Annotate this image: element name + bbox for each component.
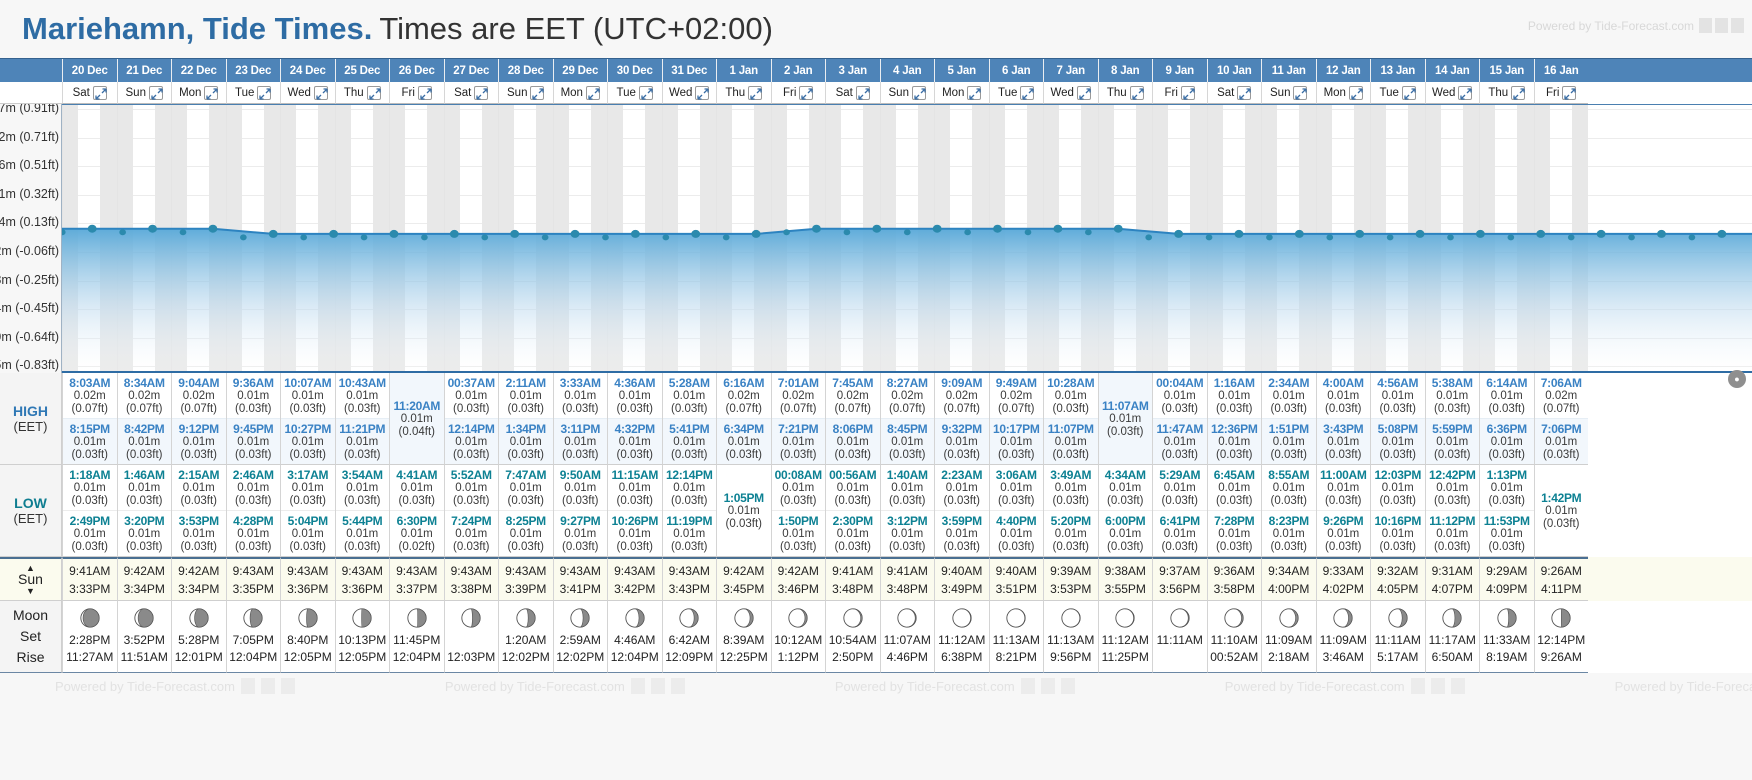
low-tide-feet: (0.03ft) [998, 541, 1034, 554]
high-tide-metres: 0.01m [292, 390, 324, 403]
low-tide-time: 7:47AM [505, 468, 546, 482]
moon-cell: 11:07AM4:46PM [880, 601, 935, 673]
scroll-handle[interactable]: ● [1728, 370, 1746, 388]
low-tide-event: 1:18AM0.01m(0.03ft) [63, 465, 117, 510]
low-tide-cell: 1:46AM0.01m(0.03ft)3:20PM0.01m(0.03ft) [117, 465, 172, 557]
high-tide-time: 7:06AM [1541, 376, 1582, 390]
tide-high-marker[interactable] [510, 230, 519, 238]
chart-y-tick: 0.04m (0.13ft) [0, 215, 59, 229]
sunrise-time: 9:43AM [396, 562, 437, 580]
moon-set-time: 4:46AM [614, 632, 655, 649]
high-tide-metres: 0.02m [128, 390, 160, 403]
low-tide-metres: 0.01m [346, 482, 378, 495]
expand-day-icon[interactable] [314, 86, 328, 100]
expand-day-icon[interactable] [639, 86, 653, 100]
day-of-week-cell: Fri [771, 82, 826, 104]
expand-day-icon[interactable] [1458, 86, 1472, 100]
tide-high-marker[interactable] [208, 225, 217, 233]
day-of-week-label: Sat [836, 87, 853, 99]
low-tide-event: 3:06AM0.01m(0.03ft) [990, 465, 1044, 510]
sun-cell: 9:37AM3:56PM [1152, 557, 1207, 601]
tide-low-marker[interactable] [1326, 234, 1333, 240]
tide-high-marker[interactable] [752, 230, 761, 238]
tide-high-marker[interactable] [1295, 230, 1304, 238]
high-tide-time: 7:45AM [832, 376, 873, 390]
expand-day-icon[interactable] [799, 86, 813, 100]
sun-cell: 9:43AM3:36PM [280, 557, 335, 601]
low-tide-time: 00:08AM [775, 468, 822, 482]
moon-phase-icon [569, 607, 591, 629]
sun-cell: 9:43AM3:42PM [607, 557, 662, 601]
moon-phase-icon [896, 607, 918, 629]
tide-low-marker[interactable] [240, 234, 247, 240]
tide-low-marker[interactable] [602, 234, 609, 240]
moon-phase-icon [351, 607, 373, 629]
sunset-time: 3:55PM [1105, 580, 1146, 598]
high-tide-label-main: HIGH [13, 403, 48, 419]
high-tide-event: 8:15PM0.01m(0.03ft) [63, 418, 117, 464]
logo-icon [1699, 18, 1712, 33]
low-tide-metres: 0.01m [564, 482, 596, 495]
moon-phase-icon [1550, 607, 1572, 629]
high-tide-feet: (0.07ft) [72, 403, 108, 416]
tide-high-marker[interactable] [1114, 225, 1123, 233]
low-tide-feet: (0.03ft) [453, 541, 489, 554]
tide-high-marker[interactable] [1355, 230, 1364, 238]
low-tide-event: 7:24PM0.01m(0.03ft) [445, 510, 499, 556]
high-tide-cell: 9:36AM0.01m(0.03ft)9:45PM0.01m(0.03ft) [226, 373, 281, 465]
tide-high-marker[interactable] [450, 230, 459, 238]
tide-low-marker[interactable] [1206, 234, 1213, 240]
low-tide-event: 2:49PM0.01m(0.03ft) [63, 510, 117, 556]
tide-low-marker[interactable] [300, 234, 307, 240]
sunrise-time: 9:36AM [1214, 562, 1255, 580]
tide-high-marker[interactable] [1235, 230, 1244, 238]
tide-low-marker[interactable] [1689, 234, 1696, 240]
expand-day-icon[interactable] [418, 86, 432, 100]
low-tide-metres: 0.01m [74, 528, 106, 541]
sun-cell: 9:41AM3:48PM [880, 557, 935, 601]
high-tide-feet: (0.03ft) [1325, 449, 1361, 462]
low-tide-time: 3:12PM [887, 514, 927, 528]
high-tide-feet: (0.03ft) [671, 449, 707, 462]
low-tide-feet: (0.03ft) [1434, 495, 1470, 508]
low-tide-time: 6:41PM [1160, 514, 1200, 528]
date-header-cell: 1 Jan [716, 59, 771, 82]
low-tide-metres: 0.01m [728, 505, 760, 518]
low-tide-event: 1:40AM0.01m(0.03ft) [881, 465, 935, 510]
sun-cell: 9:33AM4:02PM [1316, 557, 1371, 601]
tide-low-marker[interactable] [663, 234, 670, 240]
tide-high-marker[interactable] [269, 230, 278, 238]
high-tide-event: 10:28AM0.01m(0.03ft) [1044, 373, 1098, 418]
high-tide-cell: 2:34AM0.01m(0.03ft)1:51PM0.01m(0.03ft) [1261, 373, 1316, 465]
powered-by-header: Powered by Tide-Forecast.com [1528, 18, 1744, 33]
low-tide-cell: 1:13PM0.01m(0.03ft)11:53PM0.01m(0.03ft) [1479, 465, 1534, 557]
tide-high-marker[interactable] [1476, 230, 1485, 238]
high-tide-time: 4:56AM [1377, 376, 1418, 390]
tide-low-marker[interactable] [1085, 229, 1092, 235]
expand-day-icon[interactable] [1181, 86, 1195, 100]
high-tide-feet: (0.07ft) [944, 403, 980, 416]
high-tide-event: 6:36PM0.01m(0.03ft) [1480, 418, 1534, 464]
low-tide-event: 9:27PM0.01m(0.03ft) [554, 510, 608, 556]
sunset-time: 3:49PM [941, 580, 982, 598]
expand-day-icon[interactable] [1402, 86, 1416, 100]
sunset-time: 3:42PM [614, 580, 655, 598]
low-tide-cell: 8:55AM0.01m(0.03ft)8:23PM0.01m(0.03ft) [1261, 465, 1316, 557]
moon-rise-time: 12:03PM [447, 649, 495, 666]
expand-day-icon[interactable] [967, 86, 981, 100]
low-tide-time: 9:26PM [1323, 514, 1363, 528]
moon-rise-time: 11:27AM [66, 649, 113, 666]
tide-high-marker[interactable] [872, 225, 881, 233]
date-header-cell: 20 Dec [62, 59, 117, 82]
high-tide-metres: 0.01m [1164, 390, 1196, 403]
low-tide-feet: (0.03ft) [72, 495, 108, 508]
day-of-week-label: Tue [998, 87, 1017, 99]
tide-low-marker[interactable] [119, 229, 126, 235]
tide-low-marker[interactable] [542, 234, 549, 240]
expand-day-icon[interactable] [1077, 86, 1091, 100]
low-tide-feet: (0.03ft) [453, 495, 489, 508]
low-tide-event: 4:28PM0.01m(0.03ft) [227, 510, 281, 556]
sun-cell: 9:43AM3:43PM [662, 557, 717, 601]
moon-set-time: 11:13AM [993, 632, 1040, 649]
high-tide-time: 4:32PM [615, 422, 655, 436]
high-tide-event: 7:06PM0.01m(0.03ft) [1535, 418, 1589, 464]
low-tide-event: 10:16PM0.01m(0.03ft) [1371, 510, 1425, 556]
moon-cell: 10:12AM1:12PM [771, 601, 826, 673]
high-tide-feet: (0.03ft) [1216, 403, 1252, 416]
date-header-cell: 14 Jan [1425, 59, 1480, 82]
sunset-time: 3:53PM [1050, 580, 1091, 598]
high-tide-metres: 0.01m [673, 436, 705, 449]
sunset-time: 3:43PM [669, 580, 710, 598]
day-of-week-label: Sat [1217, 87, 1234, 99]
high-tide-event: 8:34AM0.02m(0.07ft) [118, 373, 172, 418]
low-tide-metres: 0.01m [183, 528, 215, 541]
tide-high-marker[interactable] [691, 230, 700, 238]
low-tide-cell: 1:18AM0.01m(0.03ft)2:49PM0.01m(0.03ft) [62, 465, 117, 557]
low-tide-metres: 0.01m [1164, 528, 1196, 541]
tide-high-marker[interactable] [1053, 225, 1062, 233]
sunset-arrow-icon: ▼ [26, 587, 35, 595]
tide-high-marker[interactable] [1597, 230, 1606, 238]
high-tide-metres: 0.02m [946, 390, 978, 403]
high-tide-metres: 0.01m [237, 436, 269, 449]
tide-high-marker[interactable] [812, 225, 821, 233]
moon-cell: 11:10AM00:52AM [1207, 601, 1262, 673]
tide-high-marker[interactable] [1717, 230, 1726, 238]
moon-cell: 11:12AM11:25PM [1098, 601, 1153, 673]
high-tide-time: 6:34PM [724, 422, 764, 436]
low-tide-cell: 11:00AM0.01m(0.03ft)9:26PM0.01m(0.03ft) [1316, 465, 1371, 557]
low-tide-time: 5:52AM [451, 468, 492, 482]
expand-day-icon[interactable] [1237, 86, 1251, 100]
tide-high-marker[interactable] [571, 230, 580, 238]
tide-high-marker[interactable] [148, 225, 157, 233]
high-tide-metres: 0.02m [728, 390, 760, 403]
low-tide-cell: 00:08AM0.01m(0.03ft)1:50PM0.01m(0.03ft) [771, 465, 826, 557]
moon-phase-icon [678, 607, 700, 629]
sunrise-time: 9:43AM [451, 562, 492, 580]
low-tide-feet: (0.03ft) [1216, 495, 1252, 508]
tide-low-marker[interactable] [1025, 229, 1032, 235]
moon-label: Moon Set Rise [0, 601, 62, 673]
day-of-week-cell: Wed [280, 82, 335, 104]
expand-day-icon[interactable] [856, 86, 870, 100]
moon-set-time: 11:17AM [1429, 632, 1476, 649]
low-tide-event: 3:59PM0.01m(0.03ft) [935, 510, 989, 556]
high-tide-feet: (0.03ft) [1325, 403, 1361, 416]
chart-y-tick: 0.1m (0.32ft) [0, 187, 59, 201]
expand-day-icon[interactable] [204, 86, 218, 100]
high-tide-metres: 0.01m [1055, 390, 1087, 403]
moon-rise-time: 12:05PM [284, 649, 332, 666]
tide-low-marker[interactable] [1447, 234, 1454, 240]
high-tide-label-sub: (EET) [14, 419, 48, 434]
day-of-week-label: Mon [561, 87, 583, 99]
high-tide-metres: 0.01m [1273, 390, 1305, 403]
date-header-cell: 27 Dec [444, 59, 499, 82]
day-of-week-label: Sun [889, 87, 909, 99]
tide-low-marker[interactable] [1266, 234, 1273, 240]
expand-day-icon[interactable] [149, 86, 163, 100]
tide-low-marker[interactable] [723, 234, 730, 240]
moon-cell: 11:09AM2:18AM [1261, 601, 1316, 673]
expand-day-icon[interactable] [257, 86, 271, 100]
sunrise-time: 9:43AM [669, 562, 710, 580]
tide-high-marker[interactable] [329, 230, 338, 238]
sun-cells: 9:41AM3:33PM9:42AM3:34PM9:42AM3:34PM9:43… [62, 557, 1752, 601]
low-tide-row: LOW (EET) 1:18AM0.01m(0.03ft)2:49PM0.01m… [0, 465, 1752, 557]
low-tide-time: 4:40PM [996, 514, 1036, 528]
moon-set-time: 6:42AM [669, 632, 710, 649]
tide-page: Mariehamn, Tide Times.Times are EET (UTC… [0, 0, 1752, 780]
expand-day-icon[interactable] [1349, 86, 1363, 100]
tide-high-marker[interactable] [1416, 230, 1425, 238]
expand-day-icon[interactable] [1511, 86, 1525, 100]
page-title-timezone: Times are EET (UTC+02:00) [379, 11, 773, 46]
low-tide-metres: 0.01m [1218, 528, 1250, 541]
high-tide-cell: 7:01AM0.02m(0.07ft)7:21PM0.01m(0.03ft) [771, 373, 826, 465]
moon-rise-time: 12:25PM [720, 649, 768, 666]
high-tide-metres: 0.01m [1491, 436, 1523, 449]
high-tide-cell: 4:56AM0.01m(0.03ft)5:08PM0.01m(0.03ft) [1370, 373, 1425, 465]
expand-day-icon[interactable] [1562, 86, 1576, 100]
expand-day-icon[interactable] [93, 86, 107, 100]
tide-low-marker[interactable] [180, 229, 187, 235]
chart-icon [1731, 18, 1744, 33]
high-tide-event: 11:07AM0.01m(0.03ft) [1099, 373, 1153, 464]
low-tide-time: 3:06AM [996, 468, 1037, 482]
high-tide-feet: (0.03ft) [889, 449, 925, 462]
high-tide-event: 4:36AM0.01m(0.03ft) [608, 373, 662, 418]
tide-high-marker[interactable] [993, 225, 1002, 233]
moon-set-time: 10:54AM [829, 632, 877, 649]
moon-cell: 6:42AM12:09PM [662, 601, 717, 673]
tide-high-marker[interactable] [390, 230, 399, 238]
low-tide-cell: 5:29AM0.01m(0.03ft)6:41PM0.01m(0.03ft) [1152, 465, 1207, 557]
expand-day-icon[interactable] [367, 86, 381, 100]
moon-cell: 5:28PM12:01PM [171, 601, 226, 673]
tide-low-marker[interactable] [421, 234, 428, 240]
high-tide-metres: 0.01m [510, 390, 542, 403]
high-tide-event: 6:14AM0.01m(0.03ft) [1480, 373, 1534, 418]
date-header-cell: 16 Jan [1534, 59, 1589, 82]
low-tide-feet: (0.03ft) [1489, 495, 1525, 508]
tide-high-marker[interactable] [933, 225, 942, 233]
moon-set-time: 8:39AM [723, 632, 764, 649]
low-tide-metres: 0.01m [1000, 482, 1032, 495]
sunset-time: 3:35PM [233, 580, 274, 598]
expand-day-icon[interactable] [1293, 86, 1307, 100]
day-of-week-cell: Fri [389, 82, 444, 104]
moon-cell: 10:13PM12:05PM [335, 601, 390, 673]
low-tide-event: 6:30PM0.01m(0.02ft) [390, 510, 444, 556]
low-tide-event: 6:45AM0.01m(0.03ft) [1208, 465, 1262, 510]
tide-high-marker[interactable] [1657, 230, 1666, 238]
high-tide-feet: (0.03ft) [617, 403, 653, 416]
expand-day-icon[interactable] [695, 86, 709, 100]
high-tide-feet: (0.03ft) [181, 449, 217, 462]
low-tide-time: 2:49PM [70, 514, 110, 528]
tide-low-marker[interactable] [1508, 234, 1515, 240]
high-tide-cell: 00:04AM0.01m(0.03ft)11:47AM0.01m(0.03ft) [1152, 373, 1207, 465]
high-tide-metres: 0.01m [1000, 436, 1032, 449]
expand-day-icon[interactable] [1130, 86, 1144, 100]
low-tide-metres: 0.01m [292, 528, 324, 541]
expand-day-icon[interactable] [1020, 86, 1034, 100]
low-tide-metres: 0.01m [564, 528, 596, 541]
low-tide-cell: 11:15AM0.01m(0.03ft)10:26PM0.01m(0.03ft) [607, 465, 662, 557]
moon-phase-icon [133, 607, 155, 629]
high-tide-event: 9:36AM0.01m(0.03ft) [227, 373, 281, 418]
moon-rise-time: 12:09PM [665, 649, 713, 666]
moon-set-time: 1:20AM [505, 632, 546, 649]
date-header-cell: 23 Dec [226, 59, 281, 82]
tide-low-marker[interactable] [1145, 234, 1152, 240]
low-tide-metres: 0.01m [292, 482, 324, 495]
high-tide-time: 8:42PM [124, 422, 164, 436]
tide-high-marker[interactable] [88, 225, 97, 233]
low-tide-metres: 0.01m [782, 528, 814, 541]
high-tide-event: 5:28AM0.01m(0.03ft) [663, 373, 717, 418]
high-tide-feet: (0.07ft) [889, 403, 925, 416]
low-tide-metres: 0.01m [401, 528, 433, 541]
moon-cell: 11:45PM12:04PM [389, 601, 444, 673]
tide-low-marker[interactable] [1387, 234, 1394, 240]
sunset-time: 3:48PM [887, 580, 928, 598]
tide-low-marker[interactable] [361, 234, 368, 240]
tide-high-marker[interactable] [631, 230, 640, 238]
day-of-week-label: Fri [1546, 87, 1559, 99]
high-tide-time: 7:01AM [778, 376, 819, 390]
high-tide-feet: (0.07ft) [998, 403, 1034, 416]
tide-low-marker[interactable] [844, 229, 851, 235]
tide-low-marker[interactable] [964, 229, 971, 235]
low-tide-time: 8:55AM [1268, 468, 1309, 482]
low-tide-time: 11:15AM [611, 468, 658, 482]
high-tide-feet: (0.03ft) [1489, 403, 1525, 416]
high-tide-metres: 0.01m [292, 436, 324, 449]
date-header-cell: 5 Jan [934, 59, 989, 82]
day-of-week-cell: Tue [607, 82, 662, 104]
tide-low-marker[interactable] [481, 234, 488, 240]
tide-high-marker[interactable] [1174, 230, 1183, 238]
expand-day-icon[interactable] [912, 86, 926, 100]
low-tide-event: 11:15AM0.01m(0.03ft) [608, 465, 662, 510]
high-tide-event: 5:41PM0.01m(0.03ft) [663, 418, 717, 464]
expand-day-icon[interactable] [586, 86, 600, 100]
low-tide-event: 4:41AM0.01m(0.03ft) [390, 465, 444, 510]
moon-phase-icon [406, 607, 428, 629]
sun-label: ▲ Sun ▼ [0, 557, 62, 601]
sunrise-time: 9:43AM [287, 562, 328, 580]
low-tide-feet: (0.03ft) [998, 495, 1034, 508]
low-tide-event: 6:41PM0.01m(0.03ft) [1153, 510, 1207, 556]
low-tide-time: 3:59PM [942, 514, 982, 528]
high-tide-metres: 0.01m [1327, 390, 1359, 403]
high-tide-time: 9:32PM [942, 422, 982, 436]
expand-day-icon[interactable] [530, 86, 544, 100]
low-tide-metres: 0.01m [237, 482, 269, 495]
day-of-week-cell: Mon [934, 82, 989, 104]
low-tide-cell: 12:14PM0.01m(0.03ft)11:19PM0.01m(0.03ft) [662, 465, 717, 557]
high-tide-time: 4:36AM [614, 376, 655, 390]
low-tide-feet: (0.03ft) [780, 541, 816, 554]
expand-day-icon[interactable] [748, 86, 762, 100]
tide-low-marker[interactable] [783, 229, 790, 235]
moon-set-time: 5:28PM [178, 632, 219, 649]
day-of-week-cell: Thu [716, 82, 771, 104]
moon-rise-time: 9:26AM [1541, 649, 1582, 666]
chart-plot-area[interactable] [62, 104, 1752, 373]
tide-low-marker[interactable] [904, 229, 911, 235]
high-tide-metres: 0.01m [128, 436, 160, 449]
high-tide-metres: 0.01m [346, 436, 378, 449]
high-tide-feet: (0.03ft) [1053, 403, 1089, 416]
low-tide-feet: (0.03ft) [1053, 541, 1089, 554]
moon-phase-icon [188, 607, 210, 629]
low-tide-metres: 0.01m [183, 482, 215, 495]
date-header-cell: 28 Dec [498, 59, 553, 82]
low-tide-feet: (0.03ft) [508, 495, 544, 508]
sunset-time: 3:41PM [560, 580, 601, 598]
moon-set-time: 10:13PM [338, 632, 386, 649]
tide-low-marker[interactable] [1628, 234, 1635, 240]
day-of-week-label: Wed [1432, 87, 1455, 99]
sunset-time: 4:00PM [1268, 580, 1309, 598]
low-tide-event: 12:42PM0.01m(0.03ft) [1426, 465, 1480, 510]
high-tide-event: 6:34PM0.01m(0.03ft) [717, 418, 771, 464]
moon-set-label: Set [20, 628, 41, 645]
high-tide-time: 9:12PM [179, 422, 219, 436]
sun-cell: 9:31AM4:07PM [1425, 557, 1480, 601]
high-tide-metres: 0.01m [1164, 436, 1196, 449]
low-tide-event: 8:25PM0.01m(0.03ft) [499, 510, 553, 556]
high-tide-cell: 9:04AM0.02m(0.07ft)9:12PM0.01m(0.03ft) [171, 373, 226, 465]
low-tide-feet: (0.03ft) [1325, 495, 1361, 508]
tide-low-marker[interactable] [1568, 234, 1575, 240]
high-tide-time: 12:14PM [448, 422, 495, 436]
logo-icon [1021, 678, 1035, 694]
tide-high-marker[interactable] [1536, 230, 1545, 238]
low-tide-metres: 0.01m [1545, 505, 1577, 518]
expand-day-icon[interactable] [474, 86, 488, 100]
low-tide-feet: (0.03ft) [1380, 495, 1416, 508]
